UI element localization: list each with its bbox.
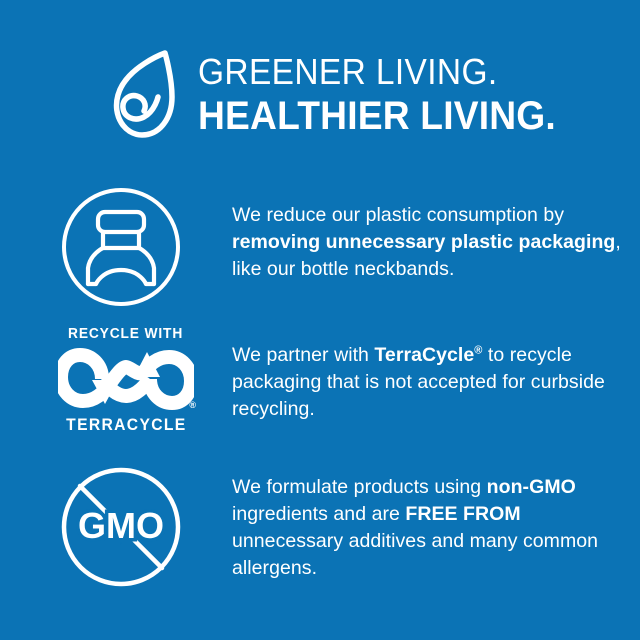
benefit-text-plastic: We reduce our plastic consumption by rem… [232, 186, 640, 283]
benefit-row-terracycle: RECYCLE WITH ® [0, 326, 640, 450]
headline-block: GREENER LIVING. HEALTHIER LIVING. [198, 54, 583, 136]
headline-line-1: GREENER LIVING. [198, 54, 556, 90]
promo-graphic: GREENER LIVING. HEALTHIER LIVING. We red… [0, 0, 640, 640]
terracycle-logo-cell: RECYCLE WITH ® [0, 326, 232, 435]
no-gmo-icon: GMO [60, 466, 182, 588]
registered-mark: ® [189, 400, 196, 410]
headline-line-2: HEALTHIER LIVING. [198, 96, 556, 136]
terracycle-logo: RECYCLE WITH ® [60, 326, 192, 435]
header: GREENER LIVING. HEALTHIER LIVING. [0, 40, 640, 150]
no-gmo-icon-cell: GMO [0, 466, 232, 588]
benefit-text-terracycle: We partner with TerraCycle® to recycle p… [232, 326, 640, 423]
benefit-row-plastic: We reduce our plastic consumption by rem… [0, 186, 640, 310]
infinity-recycle-icon: ® [58, 346, 194, 412]
gmo-label: GMO [78, 505, 164, 546]
terracycle-bottom-label: TERRACYCLE [66, 416, 186, 435]
benefit-text-gmo: We formulate products using non-GMO ingr… [232, 466, 640, 582]
bottle-neckband-icon-cell [0, 186, 232, 308]
benefit-row-gmo: GMO We formulate products using non-GMO … [0, 466, 640, 596]
leaf-icon [108, 45, 182, 145]
terracycle-top-label: RECYCLE WITH [68, 326, 183, 342]
bottle-neckband-icon [60, 186, 182, 308]
